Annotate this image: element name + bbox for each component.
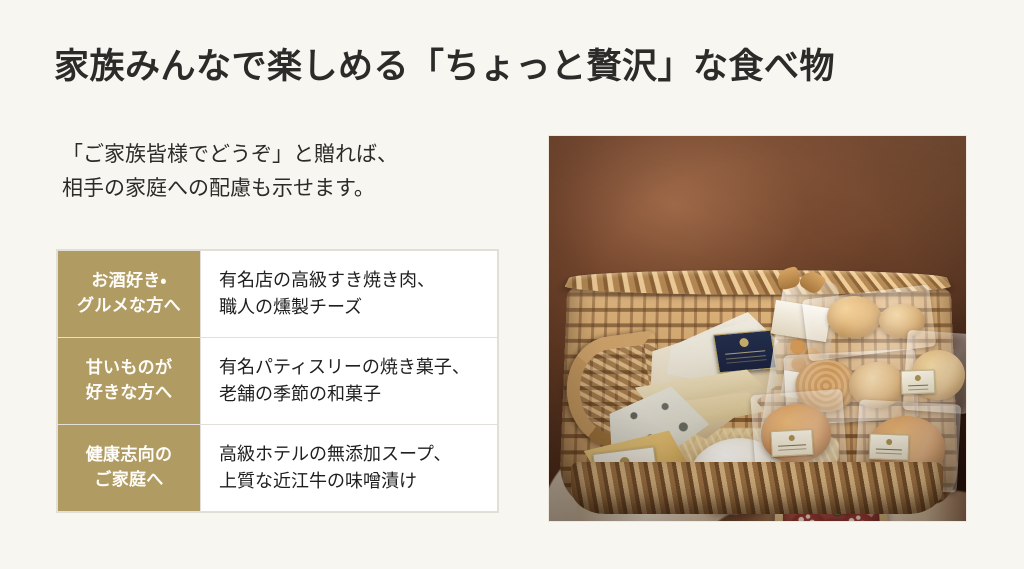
description-line-1: 有名パティスリーの焼き菓子、 (219, 354, 497, 381)
description-line-2: 上質な近江牛の味噌漬け (219, 468, 497, 495)
table-row-category: 健康志向の ご家庭へ (58, 425, 201, 512)
table-row-description: 有名店の高級すき焼き肉、 職人の燻製チーズ (201, 251, 498, 338)
description-line-1: 有名店の高級すき焼き肉、 (219, 267, 497, 294)
recommendation-table: お酒好き・ グルメな方へ 有名店の高級すき焼き肉、 職人の燻製チーズ 甘いものが… (57, 250, 498, 512)
lead-line-2: 相手の家庭への配慮も示せます。 (62, 172, 512, 206)
lead-line-1: 「ご家族皆様でどうぞ」と贈れば、 (62, 138, 512, 172)
category-line-2: 好きな方へ (58, 381, 200, 406)
description-line-1: 高級ホテルの無添加スープ、 (219, 441, 497, 468)
photo-color-grade (549, 136, 966, 521)
table-row-category: 甘いものが 好きな方へ (58, 338, 201, 425)
category-line-2: グルメな方へ (58, 294, 200, 319)
category-line-1: 健康志向の (58, 443, 200, 468)
table-row: お酒好き・ グルメな方へ 有名店の高級すき焼き肉、 職人の燻製チーズ (58, 251, 498, 338)
table-row-description: 有名パティスリーの焼き菓子、 老舗の季節の和菓子 (201, 338, 498, 425)
table-row: 健康志向の ご家庭へ 高級ホテルの無添加スープ、 上質な近江牛の味噌漬け (58, 425, 498, 512)
slide-canvas: 家族みんなで楽しめる「ちょっと贅沢」な食べ物 「ご家族皆様でどうぞ」と贈れば、 … (0, 0, 1024, 569)
description-line-2: 職人の燻製チーズ (219, 294, 497, 321)
gourmet-gift-basket-photo (549, 136, 966, 521)
table-row: 甘いものが 好きな方へ 有名パティスリーの焼き菓子、 老舗の季節の和菓子 (58, 338, 498, 425)
description-line-2: 老舗の季節の和菓子 (219, 381, 497, 408)
page-title: 家族みんなで楽しめる「ちょっと贅沢」な食べ物 (54, 47, 894, 87)
category-line-1: お酒好き・ (58, 269, 200, 294)
category-line-1: 甘いものが (58, 356, 200, 381)
table-row-description: 高級ホテルの無添加スープ、 上質な近江牛の味噌漬け (201, 425, 498, 512)
category-line-2: ご家庭へ (58, 468, 200, 493)
table-row-category: お酒好き・ グルメな方へ (58, 251, 201, 338)
lead-paragraph: 「ご家族皆様でどうぞ」と贈れば、 相手の家庭への配慮も示せます。 (62, 138, 512, 206)
